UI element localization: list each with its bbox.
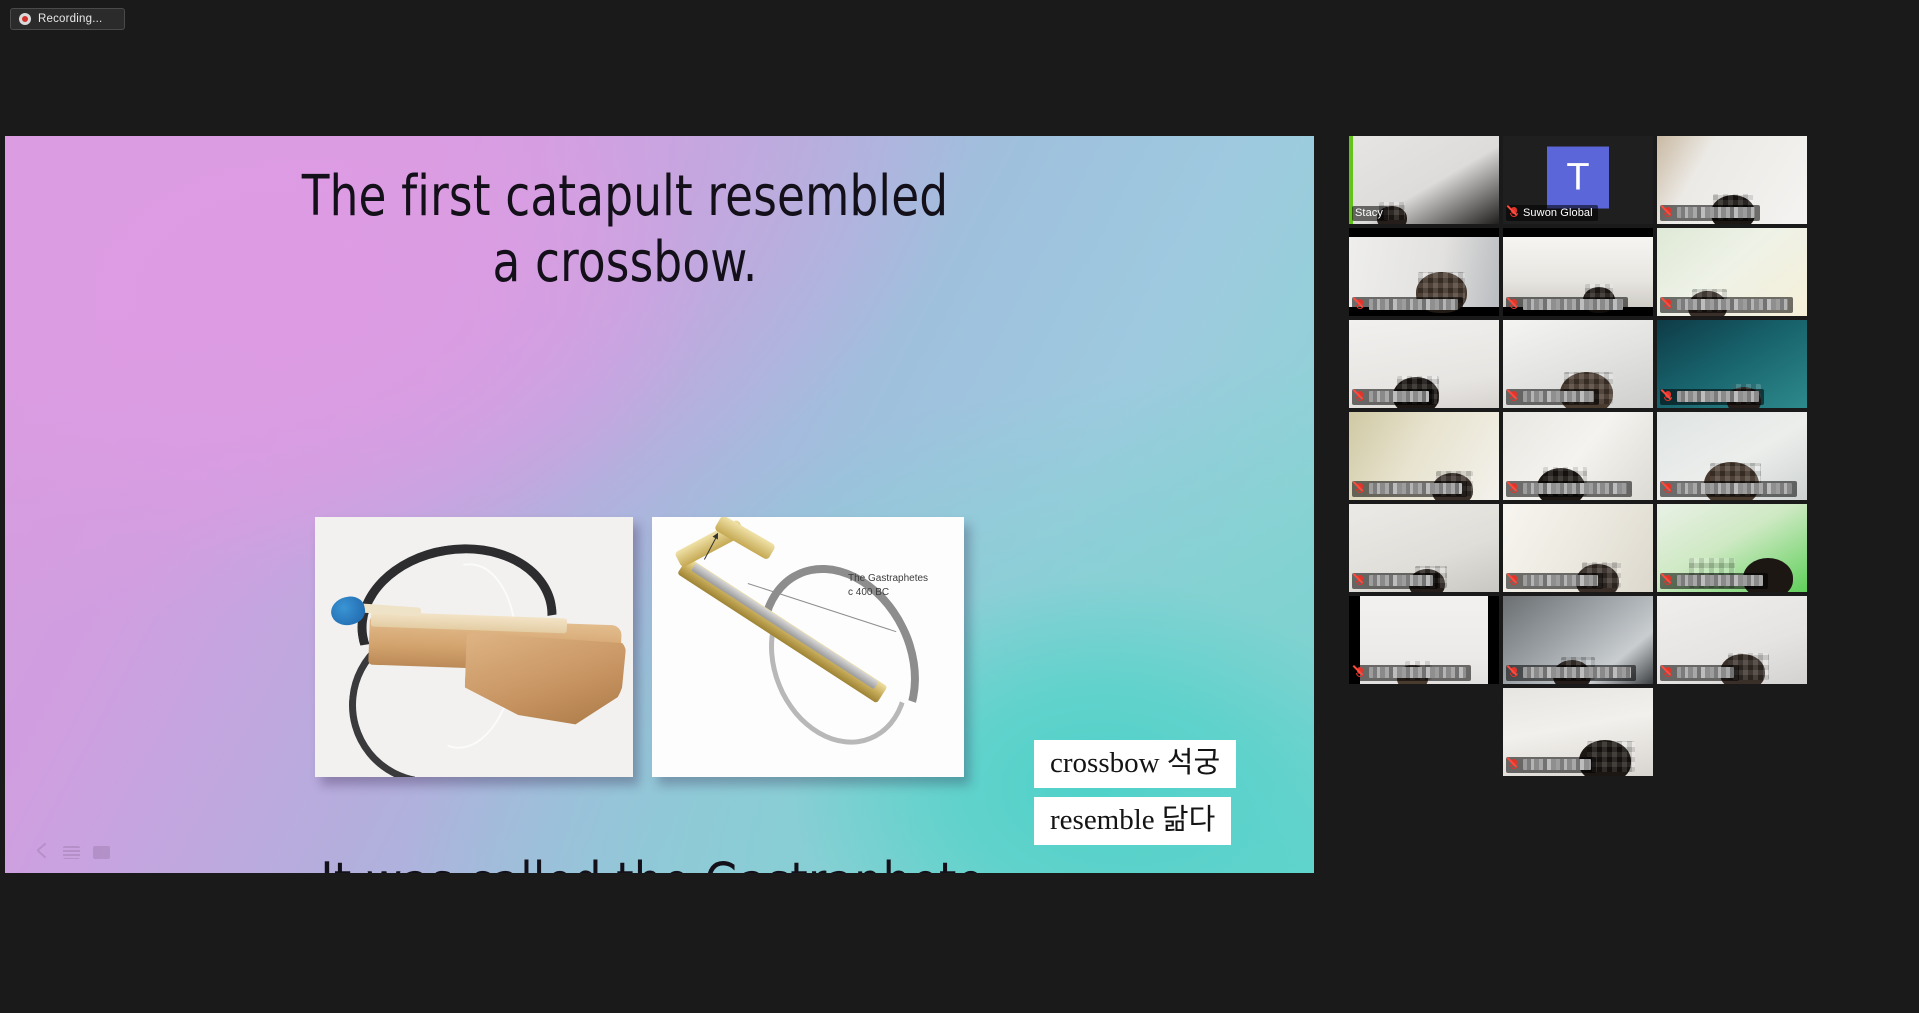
participant-name-redacted — [1677, 483, 1792, 494]
participant-name-bar: Stacy — [1352, 206, 1388, 221]
pen-icon — [33, 846, 50, 859]
participant-name-bar — [1352, 665, 1471, 681]
participant-tile[interactable] — [1349, 228, 1499, 316]
participant-tile[interactable] — [1503, 504, 1653, 592]
slide-title: The first catapult resembled a crossbow. — [67, 164, 1183, 296]
eraser-icon — [93, 846, 110, 859]
participant-tile[interactable] — [1503, 412, 1653, 500]
mic-muted-icon — [1509, 206, 1519, 219]
participant-name-redacted — [1677, 207, 1755, 218]
avatar: T — [1547, 147, 1609, 209]
participant-name-bar — [1352, 573, 1438, 589]
gastraphetes-diagram: The Gastraphetes c 400 BC — [652, 517, 964, 777]
participant-name-redacted — [1677, 391, 1759, 402]
mic-muted-icon — [1355, 482, 1365, 495]
participant-tile[interactable] — [1503, 320, 1653, 408]
participant-tile[interactable] — [1503, 596, 1653, 684]
participant-name-bar — [1506, 665, 1636, 681]
mic-muted-icon — [1663, 482, 1673, 495]
record-dot-icon — [19, 13, 31, 25]
mic-muted-icon — [1509, 298, 1519, 311]
participant-name-bar — [1660, 665, 1739, 681]
mic-muted-icon — [1509, 666, 1519, 679]
participant-name-bar — [1506, 481, 1632, 497]
mic-muted-icon — [1509, 758, 1519, 771]
participant-name-redacted — [1369, 483, 1462, 494]
recording-label: Recording... — [38, 13, 102, 25]
participant-name-bar — [1506, 573, 1603, 589]
participant-tile[interactable] — [1503, 688, 1653, 776]
participant-tile[interactable] — [1349, 596, 1499, 684]
participant-name-redacted — [1523, 299, 1623, 310]
participant-name-bar — [1660, 573, 1768, 589]
participant-name-redacted — [1523, 759, 1591, 770]
participant-name-bar — [1352, 481, 1467, 497]
gastraphetes-caption: The Gastraphetes c 400 BC — [848, 572, 928, 599]
vocab-box-resemble: resemble 닮다 — [1034, 797, 1231, 845]
participant-name-redacted — [1677, 299, 1788, 310]
participant-tile[interactable]: Stacy — [1349, 136, 1499, 224]
lines-icon — [63, 846, 80, 859]
recording-indicator[interactable]: Recording... — [10, 8, 125, 30]
mic-muted-icon — [1355, 574, 1365, 587]
participant-name-bar — [1660, 389, 1764, 405]
participant-name-bar — [1506, 297, 1628, 313]
grid-spacer — [1349, 688, 1499, 776]
participant-tile[interactable] — [1349, 320, 1499, 408]
participant-name-bar — [1506, 757, 1596, 773]
participant-name-redacted — [1369, 391, 1429, 402]
mic-muted-icon — [1355, 390, 1365, 403]
participant-tile[interactable] — [1657, 136, 1807, 224]
participant-tile[interactable] — [1657, 596, 1807, 684]
mic-muted-icon — [1355, 298, 1365, 311]
participant-name: Suwon Global — [1523, 207, 1593, 219]
slide-annotation-toolbar-watermark — [33, 846, 110, 859]
participant-name-redacted — [1369, 299, 1458, 310]
participant-name-bar — [1660, 297, 1793, 313]
participant-tile[interactable] — [1657, 320, 1807, 408]
participant-name-redacted — [1369, 667, 1466, 678]
slide-bottom-text: It was called the Gastraphete. — [57, 851, 1261, 873]
participant-name-bar: Suwon Global — [1506, 205, 1598, 221]
slide-title-line1: The first catapult resembled — [67, 164, 1183, 230]
participant-tile-grid: StacyTSuwon Global — [1349, 136, 1807, 776]
wooden-crossbow-photo — [315, 517, 633, 777]
slide-title-line2: a crossbow. — [67, 230, 1183, 296]
gastraphetes-caption-line2: c 400 BC — [848, 586, 928, 600]
participant-name: Stacy — [1355, 207, 1383, 219]
mic-muted-icon — [1663, 298, 1673, 311]
mic-muted-icon — [1509, 482, 1519, 495]
participant-name-redacted — [1523, 483, 1627, 494]
avatar-initial: T — [1566, 159, 1589, 197]
participant-name-redacted — [1523, 575, 1598, 586]
participant-name-redacted — [1677, 667, 1734, 678]
gastraphetes-caption-line1: The Gastraphetes — [848, 572, 928, 586]
shared-screen-slide[interactable]: The first catapult resembled a crossbow. — [5, 136, 1314, 873]
participant-name-redacted — [1677, 575, 1763, 586]
mic-muted-icon — [1663, 574, 1673, 587]
mic-muted-icon — [1663, 206, 1673, 219]
participant-name-bar — [1660, 205, 1760, 221]
participant-name-bar — [1352, 389, 1434, 405]
participant-tile[interactable] — [1657, 412, 1807, 500]
participant-name-bar — [1660, 481, 1797, 497]
participant-tile[interactable]: TSuwon Global — [1503, 136, 1653, 224]
participant-tile[interactable] — [1349, 504, 1499, 592]
participant-tile[interactable] — [1657, 228, 1807, 316]
participant-name-bar — [1506, 389, 1599, 405]
participant-name-redacted — [1369, 575, 1433, 586]
participant-name-redacted — [1523, 667, 1631, 678]
participant-name-bar — [1352, 297, 1463, 313]
mic-muted-icon — [1663, 390, 1673, 403]
zoom-meeting-window: Recording... The first catapult resemble… — [0, 0, 1919, 1013]
mic-muted-icon — [1509, 574, 1519, 587]
vocab-box-crossbow: crossbow 석궁 — [1034, 740, 1236, 788]
participant-name-redacted — [1523, 391, 1594, 402]
mic-muted-icon — [1355, 666, 1365, 679]
participant-tile[interactable] — [1503, 228, 1653, 316]
participant-tile[interactable] — [1349, 412, 1499, 500]
participant-tile[interactable] — [1657, 504, 1807, 592]
mic-muted-icon — [1663, 666, 1673, 679]
mic-muted-icon — [1509, 390, 1519, 403]
